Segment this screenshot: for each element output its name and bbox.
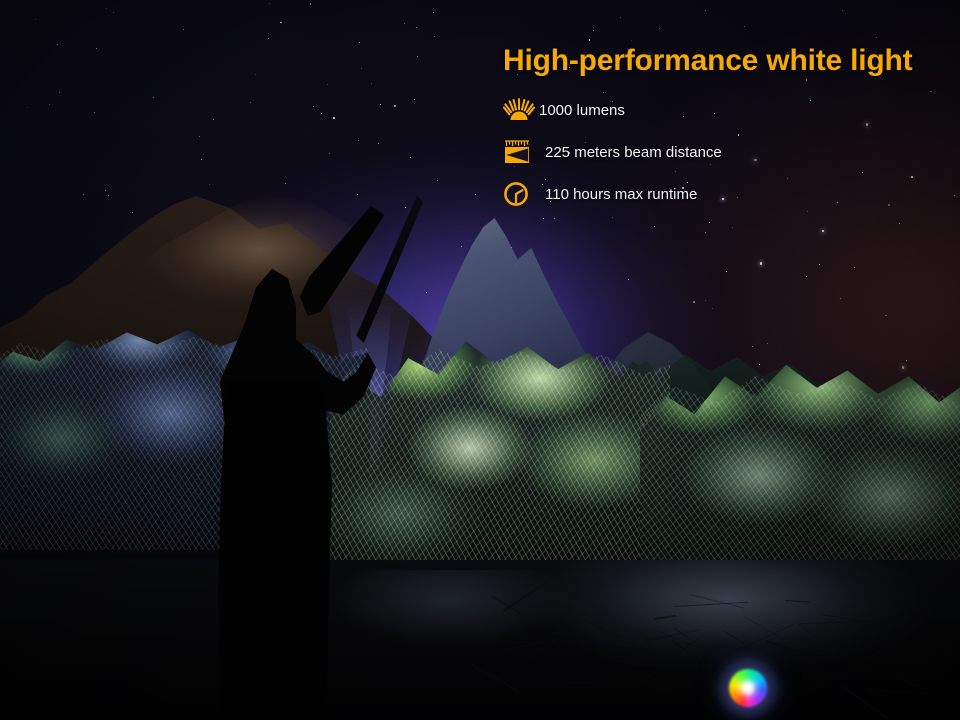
- star: [280, 22, 282, 24]
- star: [313, 106, 314, 107]
- headline: High-performance white light: [503, 44, 933, 77]
- star: [767, 343, 768, 344]
- star: [654, 226, 655, 227]
- star: [899, 223, 900, 224]
- star: [593, 30, 594, 31]
- star: [693, 301, 695, 303]
- star: [199, 136, 200, 137]
- beam-distance-ruler-icon: [503, 137, 537, 167]
- star: [201, 159, 202, 160]
- star: [106, 8, 107, 9]
- star: [760, 262, 763, 265]
- star: [96, 48, 97, 49]
- feature-bullet-lumens-label: 1000 lumens: [539, 102, 625, 119]
- star: [153, 97, 154, 98]
- star: [310, 3, 312, 5]
- vegetation-center-branches: [330, 342, 670, 592]
- star: [49, 104, 50, 105]
- star: [410, 157, 411, 158]
- star: [876, 37, 877, 38]
- star: [840, 298, 841, 299]
- star: [378, 143, 379, 144]
- star: [589, 39, 591, 41]
- star: [213, 119, 215, 121]
- star: [732, 227, 733, 228]
- star: [819, 264, 820, 265]
- star: [543, 218, 544, 219]
- star: [437, 180, 438, 181]
- star: [333, 117, 335, 119]
- star: [854, 267, 855, 268]
- star: [954, 195, 956, 197]
- star: [554, 218, 555, 219]
- sun-rays-icon: [503, 95, 537, 125]
- star: [705, 10, 706, 11]
- star: [269, 3, 270, 4]
- star: [759, 364, 761, 366]
- star: [404, 23, 405, 24]
- star: [752, 346, 753, 347]
- star: [59, 92, 60, 93]
- star: [659, 28, 660, 29]
- star: [105, 190, 106, 191]
- feature-bullet-lumens: 1000 lumens: [503, 91, 933, 129]
- star: [35, 19, 36, 20]
- star: [405, 207, 406, 208]
- star: [414, 99, 415, 100]
- star: [433, 12, 434, 13]
- star: [906, 360, 907, 361]
- star: [329, 153, 330, 154]
- star: [57, 44, 58, 45]
- star: [209, 184, 210, 185]
- star: [255, 74, 256, 75]
- star: [475, 194, 476, 195]
- star: [361, 68, 362, 69]
- star: [744, 26, 745, 27]
- star: [416, 27, 417, 28]
- feature-bullet-runtime-label: 110 hours max runtime: [545, 186, 697, 203]
- rgb-color-wheel-badge[interactable]: [729, 669, 767, 707]
- star: [268, 38, 269, 39]
- star: [27, 107, 28, 108]
- star: [371, 83, 372, 84]
- star: [705, 300, 706, 301]
- star: [712, 308, 713, 309]
- feature-bullet-beam-distance-label: 225 meters beam distance: [545, 144, 722, 161]
- night-scene-photo: High-performance white light: [0, 0, 960, 720]
- star: [434, 36, 435, 37]
- marketing-copy-block: High-performance white light: [503, 44, 933, 217]
- ground-lit-patch-center: [330, 570, 630, 690]
- star: [83, 194, 84, 195]
- star: [822, 230, 825, 233]
- feature-bullet-runtime: 110 hours max runtime: [503, 175, 933, 213]
- star: [183, 29, 184, 30]
- star: [357, 194, 358, 195]
- feature-bullet-list: 1000 lumens: [503, 91, 933, 213]
- star: [358, 140, 360, 142]
- star: [132, 212, 133, 213]
- star: [705, 232, 706, 233]
- star: [380, 104, 381, 105]
- star: [726, 271, 727, 272]
- star: [902, 366, 905, 369]
- star: [113, 12, 114, 13]
- clock-icon: [503, 179, 537, 209]
- star: [250, 102, 251, 103]
- star: [709, 222, 710, 223]
- star: [321, 113, 322, 114]
- star: [359, 42, 360, 43]
- star: [461, 246, 462, 247]
- star: [620, 17, 621, 18]
- star: [417, 56, 418, 57]
- feature-bullet-beam-distance: 225 meters beam distance: [503, 133, 933, 171]
- star: [885, 315, 887, 317]
- star: [94, 112, 95, 113]
- star: [108, 195, 109, 196]
- star: [806, 276, 807, 277]
- star: [285, 183, 287, 185]
- star: [631, 40, 632, 41]
- star: [327, 84, 328, 85]
- star: [842, 10, 843, 11]
- star: [394, 105, 396, 107]
